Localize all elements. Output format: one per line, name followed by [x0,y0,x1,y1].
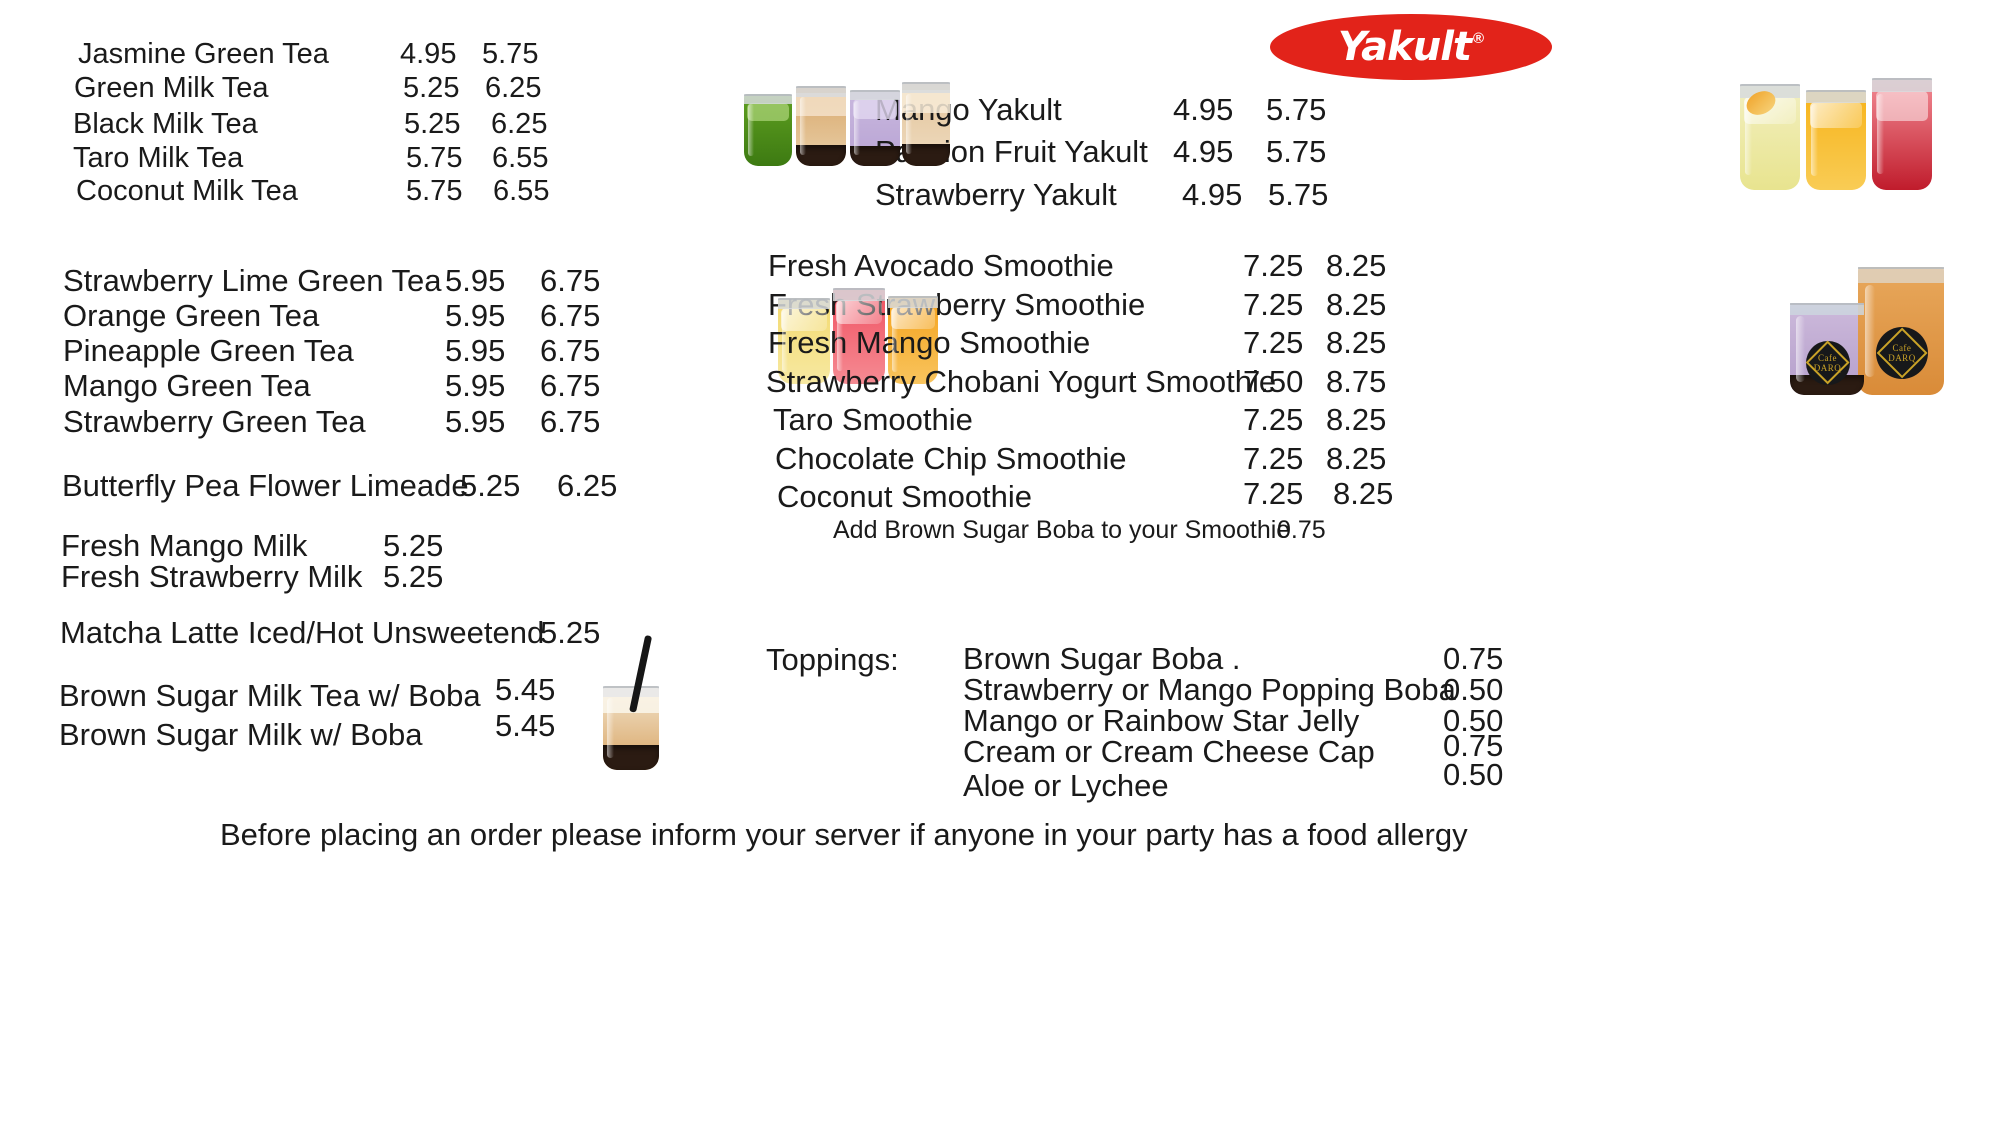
cafe-badge-line2: DARQ [1814,363,1842,373]
menu-item-name: Matcha Latte Iced/Hot Unsweetend [60,615,544,651]
menu-item-price-large: 5.75 [482,38,538,71]
menu-item-price-small: 5.75 [406,175,462,208]
menu-item-price-large: 6.25 [491,108,547,141]
menu-item-price-small: 4.95 [1173,134,1233,170]
cafe-badge-line2: DARQ [1888,353,1916,363]
menu-item-price-large: 6.75 [540,333,600,369]
menu-item-price-small: 5.95 [445,333,505,369]
registered-trademark-icon: ® [1473,30,1484,47]
menu-item-price-large: 8.25 [1326,248,1386,284]
menu-item-price-small: 5.95 [445,368,505,404]
menu-item-name: Chocolate Chip Smoothie [775,441,1127,477]
menu-item-name: Butterfly Pea Flower Limeade [62,468,469,504]
menu-item-price: 5.25 [383,559,443,595]
menu-item-price-small: 7.25 [1243,402,1303,438]
menu-item-name: Strawberry Yakult [875,177,1117,213]
menu-item-price-small: 5.95 [445,263,505,299]
menu-item-price-large: 6.75 [540,404,600,440]
menu-item-name: Orange Green Tea [63,298,319,334]
menu-item-price-small: 7.25 [1243,287,1303,323]
cafe-badge-line1: Cafe [1818,353,1837,363]
menu-item-name: Fresh Strawberry Milk [61,559,362,595]
menu-item-name: Green Milk Tea [74,72,269,105]
menu-item-name: Fresh Avocado Smoothie [768,248,1114,284]
menu-item-name: Strawberry Lime Green Tea [63,263,441,299]
menu-item-price-large: 5.75 [1266,92,1326,128]
menu-item-price-large: 6.55 [492,142,548,175]
brown-sugar-boba-photo [595,645,665,770]
menu-item-price-large: 8.25 [1326,441,1386,477]
menu-item-price-large: 8.75 [1326,364,1386,400]
menu-item-name: Taro Milk Tea [73,142,243,175]
menu-item-price: 5.25 [540,615,600,651]
menu-item-price-small: 7.50 [1243,364,1303,400]
menu-item-price-large: 8.25 [1333,476,1393,512]
menu-item-price-small: 4.95 [1182,177,1242,213]
menu-item-price: 5.45 [495,708,555,744]
menu-item-name: Mango Green Tea [63,368,311,404]
menu-item-price-large: 6.75 [540,298,600,334]
menu-item-price-large: 6.25 [557,468,617,504]
menu-item-price-large: 6.55 [493,175,549,208]
yakult-drinks-photo [1740,70,1940,190]
menu-item-price: 5.45 [495,672,555,708]
toppings-label: Toppings: [766,642,899,678]
menu-item-name: Strawberry Green Tea [63,404,366,440]
menu-item-price-large: 6.75 [540,368,600,404]
topping-name: Aloe or Lychee [963,768,1169,804]
menu-item-price-small: 5.95 [445,404,505,440]
menu-item-name: Black Milk Tea [73,108,258,141]
yakult-logo-text: Yakult [1338,24,1471,70]
menu-item-name: Pineapple Green Tea [63,333,354,369]
smoothie-photo: CafeDARQ CafeDARQ [1790,263,1960,395]
yakult-logo: Yakult ® [1270,14,1552,80]
menu-item-price-small: 5.25 [403,72,459,105]
menu-item-name: Taro Smoothie [773,402,973,438]
menu-item-price-small: 4.95 [400,38,456,71]
menu-item-price-small: 5.25 [460,468,520,504]
smoothie-addon-price: 0.75 [1277,516,1326,545]
menu-item-price-small: 5.25 [404,108,460,141]
menu-item-price-small: 7.25 [1243,476,1303,512]
menu-item-price-large: 5.75 [1268,177,1328,213]
menu-item-price-small: 5.95 [445,298,505,334]
menu-item-price-small: 5.75 [406,142,462,175]
topping-price: 0.50 [1443,757,1503,793]
menu-item-name: Coconut Milk Tea [76,175,298,208]
menu-item-price-large: 8.25 [1326,287,1386,323]
menu-item-price-small: 4.95 [1173,92,1233,128]
menu-item-price-large: 5.75 [1266,134,1326,170]
menu-item-price-large: 8.25 [1326,325,1386,361]
cafe-badge-line1: Cafe [1892,343,1911,353]
menu-item-price-small: 7.25 [1243,248,1303,284]
topping-name: Cream or Cream Cheese Cap [963,734,1375,770]
smoothie-addon-text: Add Brown Sugar Boba to your Smoothie [833,516,1290,545]
menu-item-price-large: 6.75 [540,263,600,299]
menu-item-name: Brown Sugar Milk Tea w/ Boba [59,678,481,714]
menu-item-name: Coconut Smoothie [777,479,1032,515]
allergy-notice: Before placing an order please inform yo… [220,817,1468,853]
menu-item-price-small: 7.25 [1243,441,1303,477]
menu-item-price-small: 7.25 [1243,325,1303,361]
menu-item-name: Brown Sugar Milk w/ Boba [59,717,423,753]
menu-item-name: Jasmine Green Tea [78,38,329,71]
menu-board: Jasmine Green Tea 4.95 5.75 Green Milk T… [0,0,2000,1125]
menu-item-price-large: 6.25 [485,72,541,105]
menu-item-price-large: 8.25 [1326,402,1386,438]
